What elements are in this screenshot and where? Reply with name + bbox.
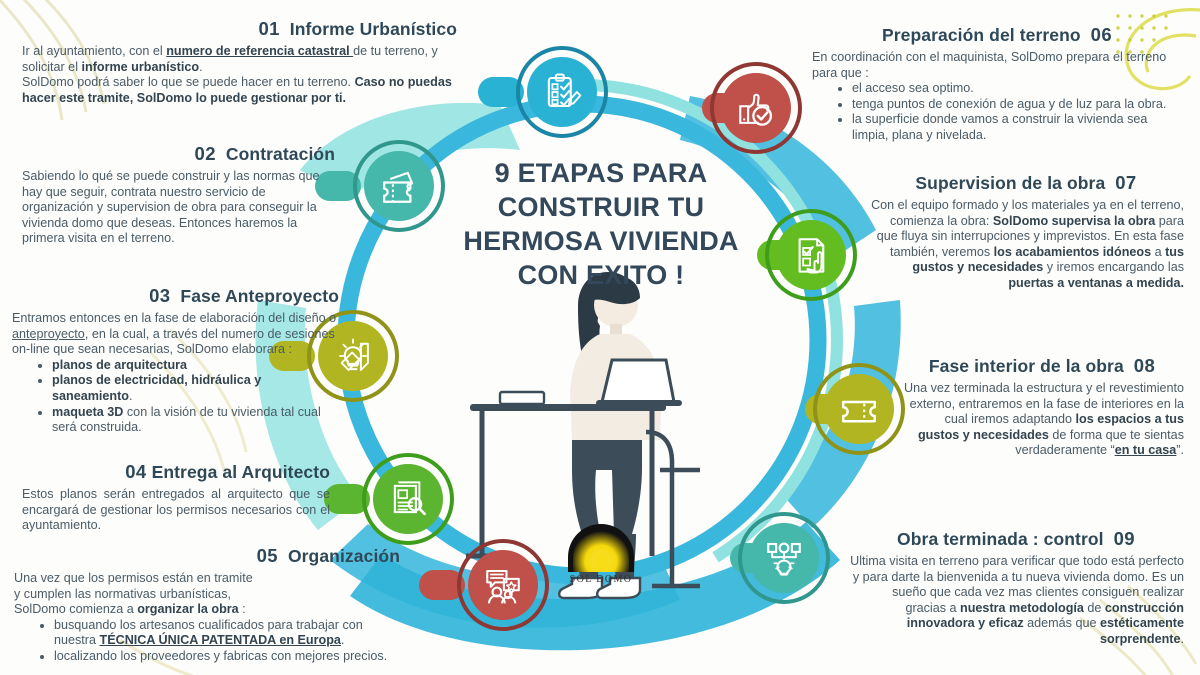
step-text-01: 01 Informe Urbanístico Ir al ayuntamient… bbox=[22, 18, 457, 106]
sol-domo-logo: SOL DOMO bbox=[566, 524, 636, 585]
lightbulb-plan-icon bbox=[763, 537, 805, 579]
page-title: 9 ETAPAS PARA CONSTRUIR TU HERMOSA VIVIE… bbox=[462, 156, 740, 292]
step-number-06: 06 bbox=[1091, 24, 1112, 45]
list-item: planos de electricidad, hidráulica y san… bbox=[52, 373, 339, 404]
list-item: tenga puntos de conexión de agua y de lu… bbox=[852, 97, 1182, 113]
list-item: la superficie donde vamos a construir la… bbox=[852, 112, 1182, 143]
step-bullets-05: busquando los artesanos cualificados par… bbox=[14, 618, 400, 665]
step-body-03: Entramos entonces en la fase de elaborac… bbox=[12, 311, 339, 358]
list-item: busquando los artesanos cualificados par… bbox=[54, 618, 400, 649]
step-body-09: Ultima visita en terreno para verificar … bbox=[848, 554, 1184, 648]
step-number-03: 03 bbox=[149, 285, 170, 306]
title-line-1: 9 ETAPAS PARA bbox=[462, 156, 740, 190]
step-title-08: Fase interior de la obra bbox=[929, 356, 1124, 376]
step-bullets-03: planos de arquitecturaplanos de electric… bbox=[12, 358, 339, 436]
step-number-09: 09 bbox=[1114, 528, 1135, 549]
step-heading-01: 01 Informe Urbanístico bbox=[22, 18, 457, 40]
thumbs-up-check-icon bbox=[735, 87, 777, 129]
logo-wordmark: SOL DOMO bbox=[566, 574, 636, 585]
document-search-icon bbox=[387, 478, 429, 520]
step-heading-07: Supervision de la obra 07 bbox=[868, 172, 1184, 194]
step-number-02: 02 bbox=[195, 143, 216, 164]
checklist-hand-icon bbox=[790, 234, 832, 276]
step-text-03: 03 Fase Anteproyecto Entramos entonces e… bbox=[12, 285, 339, 436]
tickets-icon bbox=[378, 165, 420, 207]
step-title-09: Obra terminada : control bbox=[897, 529, 1104, 549]
title-line-3: HERMOSA VIVIENDA bbox=[462, 224, 740, 258]
step-heading-04: 04 Entrega al Arquitecto bbox=[22, 461, 330, 483]
step-text-07: Supervision de la obra 07 Con el equipo … bbox=[868, 172, 1184, 292]
step-body-02: Sabiendo lo qué se puede construir y las… bbox=[22, 169, 335, 247]
step-heading-05: 05 Organización bbox=[14, 545, 400, 567]
list-item: maqueta 3D con la visión de tu vivienda … bbox=[52, 405, 339, 436]
step-body-05: Una vez que los permisos están en tramit… bbox=[14, 571, 400, 618]
ticket-interior-icon bbox=[838, 388, 880, 430]
title-line-2: CONSTRUIR TU bbox=[462, 190, 740, 224]
step-title-03: Fase Anteproyecto bbox=[180, 286, 339, 306]
step-text-02: 02 Contratación Sabiendo lo qué se puede… bbox=[22, 143, 335, 247]
step-text-06: Preparación del terreno 06 En coordinaci… bbox=[812, 24, 1182, 144]
step-heading-06: Preparación del terreno 06 bbox=[812, 24, 1182, 46]
step-text-04: 04 Entrega al Arquitecto Estos planos se… bbox=[22, 461, 330, 534]
step-text-09: Obra terminada : control 09 Ultima visit… bbox=[848, 528, 1184, 648]
step-title-06: Preparación del terreno bbox=[882, 25, 1081, 45]
step-title-01: Informe Urbanístico bbox=[290, 19, 457, 39]
step-number-08: 08 bbox=[1134, 355, 1155, 376]
clipboard-check-pencil-icon bbox=[541, 71, 583, 113]
step-text-05: 05 Organización Una vez que los permisos… bbox=[14, 545, 400, 665]
step-title-07: Supervision de la obra bbox=[915, 173, 1105, 193]
step-heading-08: Fase interior de la obra 08 bbox=[900, 355, 1184, 377]
step-body-04: Estos planos serán entregados al arquite… bbox=[22, 487, 330, 534]
step-heading-03: 03 Fase Anteproyecto bbox=[12, 285, 339, 307]
title-line-4: CON EXITO ! bbox=[462, 258, 740, 292]
infographic-canvas: 9 ETAPAS PARA CONSTRUIR TU HERMOSA VIVIE… bbox=[0, 0, 1200, 675]
dome-logo-icon bbox=[568, 524, 634, 572]
step-number-04: 04 bbox=[125, 461, 146, 482]
step-body-01: Ir al ayuntamiento, con el numero de ref… bbox=[22, 44, 457, 106]
step-title-04: Entrega al Arquitecto bbox=[152, 462, 330, 482]
step-bullets-06: el acceso sea optimo.tenga puntos de con… bbox=[812, 81, 1182, 143]
list-item: localizando los proveedores y fabricas c… bbox=[54, 649, 400, 665]
step-body-06: En coordinación con el maquinista, SolDo… bbox=[812, 50, 1182, 81]
step-body-07: Con el equipo formado y los materiales y… bbox=[868, 198, 1184, 292]
people-chat-icon bbox=[482, 564, 524, 606]
step-title-05: Organización bbox=[288, 546, 400, 566]
step-number-05: 05 bbox=[257, 545, 278, 566]
step-body-08: Una vez terminada la estructura y el rev… bbox=[900, 381, 1184, 459]
step-number-07: 07 bbox=[1115, 172, 1136, 193]
list-item: el acceso sea optimo. bbox=[852, 81, 1182, 97]
step-title-02: Contratación bbox=[226, 144, 335, 164]
step-heading-09: Obra terminada : control 09 bbox=[848, 528, 1184, 550]
step-text-08: Fase interior de la obra 08 Una vez term… bbox=[900, 355, 1184, 459]
step-number-01: 01 bbox=[258, 18, 279, 39]
list-item: planos de arquitectura bbox=[52, 358, 339, 374]
step-heading-02: 02 Contratación bbox=[22, 143, 335, 165]
